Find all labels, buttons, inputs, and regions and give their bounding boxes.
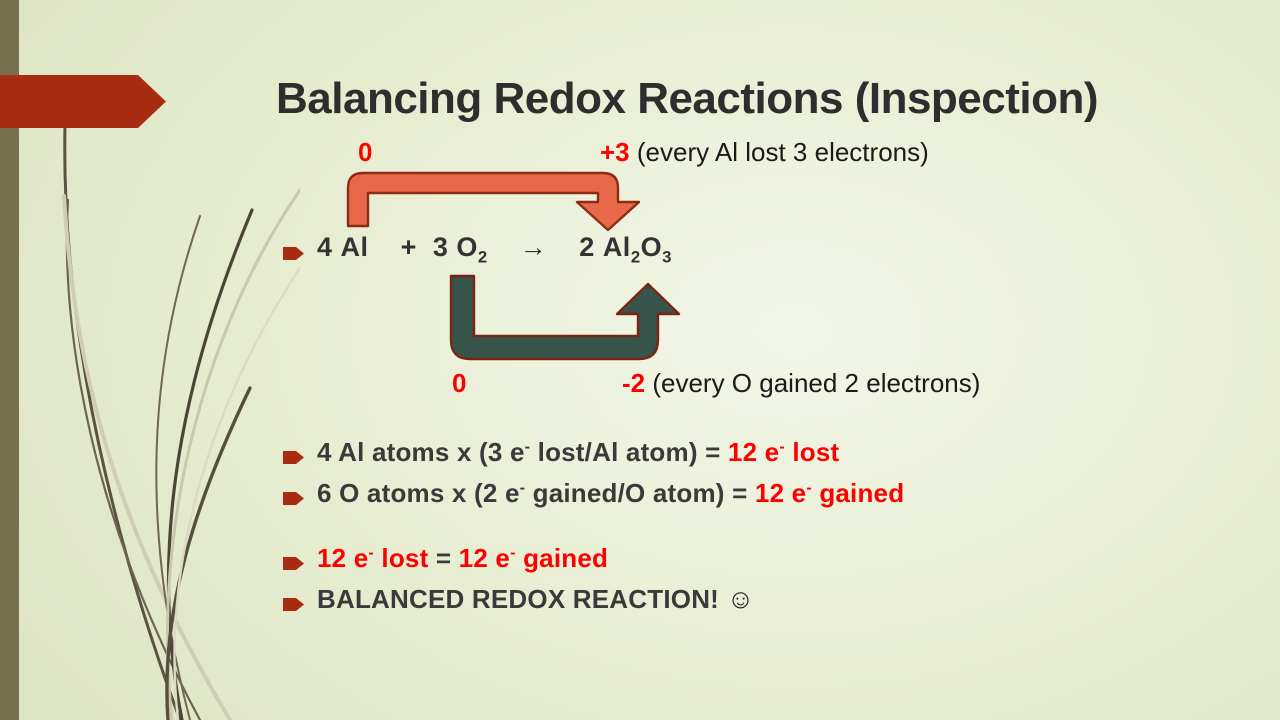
bullet-text-fragment: lost <box>785 437 839 467</box>
bullet-text-electron-balance: 12 e- lost = 12 e- gained <box>317 543 608 574</box>
oxidation-number-al-product: +3 <box>600 137 630 167</box>
bullet-marker-icon <box>283 450 305 465</box>
bullet-marker-icon <box>283 491 305 506</box>
bullet-row-o-electron-count: 6 O atoms x (2 e- gained/O atom) = 12 e-… <box>283 478 1223 509</box>
oxidation-note-aluminum: +3 (every Al lost 3 electrons) <box>600 137 929 168</box>
oxidation-note-o-text: (every O gained 2 electrons) <box>645 368 980 398</box>
bullet-text-fragment: gained/O atom) = <box>525 478 755 508</box>
yields-arrow: → <box>520 232 548 262</box>
bullet-text-fragment: 12 e <box>728 437 779 467</box>
bullet-text-fragment: lost <box>374 543 436 573</box>
oxidation-number-o-product: -2 <box>622 368 645 398</box>
oxidation-number-o-reactant: 0 <box>452 368 466 399</box>
bullet-marker-icon <box>283 556 305 571</box>
bullet-text-fragment: BALANCED REDOX REACTION! <box>317 584 719 614</box>
bullet-text-fragment: = <box>436 543 451 573</box>
bullet-text-al-electron-count: 4 Al atoms x (3 e- lost/Al atom) = 12 e-… <box>317 437 839 468</box>
oxidation-number-al-reactant: 0 <box>358 137 372 168</box>
title-banner-shape <box>0 75 166 128</box>
equation-text: 4 Al + 3 O2 → 2 Al2O3 <box>317 232 672 267</box>
bullet-text-fragment: gained <box>812 478 904 508</box>
product-subscript-1: 2 <box>631 247 641 266</box>
slide-canvas: Balancing Redox Reactions (Inspection) 0… <box>0 0 1280 720</box>
reactant-2-coefficient: 3 <box>433 232 449 262</box>
product-subscript-2: 3 <box>662 247 672 266</box>
bullet-text-fragment: 12 e <box>451 543 510 573</box>
bullet-text-fragment: gained <box>516 543 608 573</box>
bullet-text-conclusion: BALANCED REDOX REACTION! ☺ <box>317 584 755 615</box>
reactant-1-formula: Al <box>341 232 369 262</box>
bullet-text-fragment: 4 Al atoms x (3 e <box>317 437 525 467</box>
bullet-text-fragment: 12 e <box>755 478 806 508</box>
bullet-text-o-electron-count: 6 O atoms x (2 e- gained/O atom) = 12 e-… <box>317 478 904 509</box>
bullet-row-electron-balance: 12 e- lost = 12 e- gained <box>283 543 1223 574</box>
reactant-2-formula: O <box>456 232 478 262</box>
product-coefficient: 2 <box>579 232 595 262</box>
bullet-text-fragment: ☺ <box>719 584 754 614</box>
reduction-arrow-green <box>448 274 688 366</box>
product-element-2: O <box>641 232 663 262</box>
bullet-list: 4 Al atoms x (3 e- lost/Al atom) = 12 e-… <box>283 437 1223 625</box>
chemical-equation-row: 4 Al + 3 O2 → 2 Al2O3 <box>283 232 672 267</box>
oxidation-arrow-orange <box>345 166 655 232</box>
bullet-text-fragment: 6 O atoms x (2 e <box>317 478 520 508</box>
bullet-text-fragment: 12 e <box>317 543 368 573</box>
bullet-row-al-electron-count: 4 Al atoms x (3 e- lost/Al atom) = 12 e-… <box>283 437 1223 468</box>
page-title: Balancing Redox Reactions (Inspection) <box>276 74 1236 124</box>
plus-sign: + <box>401 232 417 262</box>
reactant-1-coefficient: 4 <box>317 232 333 262</box>
bullet-text-fragment: lost/Al atom) = <box>530 437 728 467</box>
oxidation-note-al-text: (every Al lost 3 electrons) <box>630 137 929 167</box>
bullet-marker-icon <box>283 246 305 261</box>
product-formula: Al <box>603 232 631 262</box>
reactant-2-subscript: 2 <box>478 247 488 266</box>
bullet-row-conclusion: BALANCED REDOX REACTION! ☺ <box>283 584 1223 615</box>
oxidation-note-oxygen: -2 (every O gained 2 electrons) <box>622 368 980 399</box>
bullet-marker-icon <box>283 597 305 612</box>
